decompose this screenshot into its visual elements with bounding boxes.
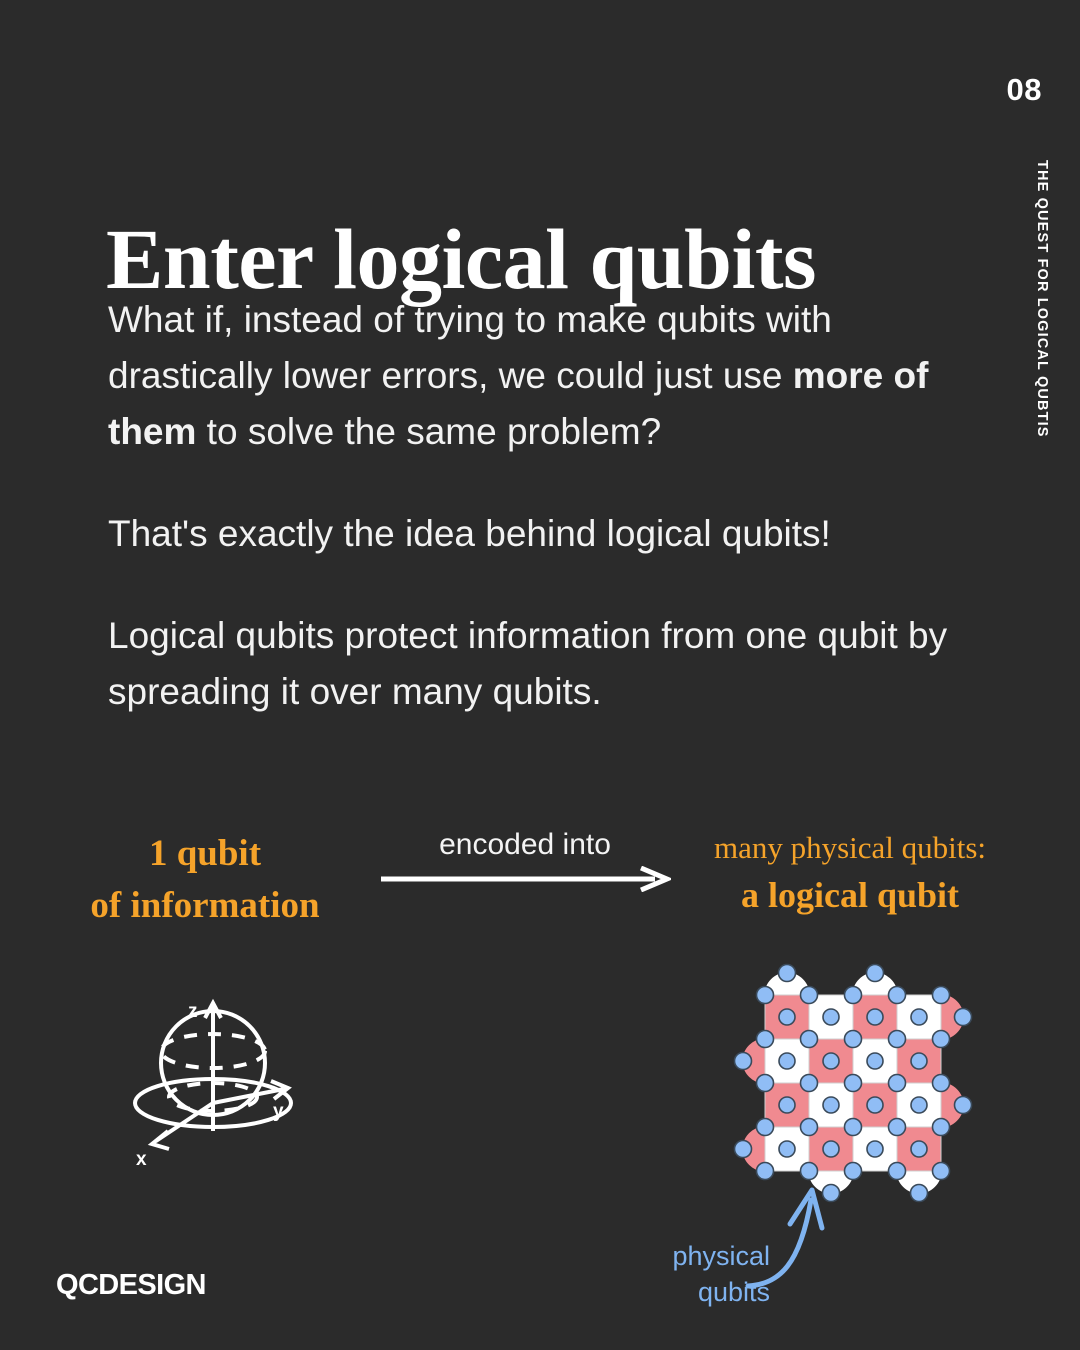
qubit-dot xyxy=(889,1163,906,1180)
qubit-dot xyxy=(845,987,862,1004)
body-paragraph: Logical qubits protect information from … xyxy=(108,608,988,720)
encoding-source-line2: of information xyxy=(90,885,319,926)
qubit-dot xyxy=(867,1097,883,1113)
qubit-dot xyxy=(955,1009,972,1026)
qubit-dot xyxy=(933,987,950,1004)
encoding-source-line1: 1 qubit xyxy=(149,833,261,874)
qubit-dot xyxy=(889,1075,906,1092)
physical-qubits-label-line2: qubits xyxy=(698,1277,770,1307)
qubit-dot xyxy=(801,1163,818,1180)
qubit-dot xyxy=(801,987,818,1004)
qubit-dot xyxy=(845,1119,862,1136)
qubit-dot xyxy=(801,1031,818,1048)
encoding-transition: encoded into xyxy=(370,828,680,892)
encoding-source-label: 1 qubit of information xyxy=(40,828,370,932)
bloch-axis-label-z: z xyxy=(188,1001,198,1022)
encoding-target-line1: many physical qubits: xyxy=(680,826,1020,870)
qubit-dot xyxy=(911,1009,927,1025)
encoding-target-label: many physical qubits: a logical qubit xyxy=(680,826,1020,920)
body-text-run: Logical qubits protect information from … xyxy=(108,615,947,712)
qubit-dot xyxy=(911,1185,928,1202)
qubit-dot xyxy=(823,1097,839,1113)
qubit-dot xyxy=(779,1009,795,1025)
qubit-dot xyxy=(823,1009,839,1025)
qubit-dot xyxy=(757,1119,774,1136)
qubit-dot xyxy=(889,1031,906,1048)
qubit-dot xyxy=(845,1031,862,1048)
qubit-dot xyxy=(911,1097,927,1113)
qubit-dot xyxy=(933,1163,950,1180)
qubit-dot xyxy=(867,1141,883,1157)
qubit-dot xyxy=(757,1031,774,1048)
qubit-dot xyxy=(845,1163,862,1180)
qubit-dot xyxy=(779,1141,795,1157)
encoding-target-line2: a logical qubit xyxy=(680,870,1020,920)
page-title: Enter logical qubits xyxy=(106,216,816,302)
qubit-dot xyxy=(889,987,906,1004)
page-number: 08 xyxy=(1007,72,1042,108)
physical-qubits-annotation: physical qubits xyxy=(640,1180,870,1305)
bloch-axis-label-x: x xyxy=(136,1149,147,1170)
right-arrow-icon xyxy=(379,866,671,892)
encoded-into-label: encoded into xyxy=(370,828,680,862)
qubit-dot xyxy=(867,1009,883,1025)
qubit-dot xyxy=(845,1075,862,1092)
qubit-dot xyxy=(867,1053,883,1069)
body-paragraph: That's exactly the idea behind logical q… xyxy=(108,506,988,562)
bloch-sphere-icon: z y x xyxy=(118,985,308,1180)
qubit-dot xyxy=(933,1031,950,1048)
qubit-dot xyxy=(757,1163,774,1180)
body-copy: What if, instead of trying to make qubit… xyxy=(108,292,988,720)
qubit-dot xyxy=(735,1141,752,1158)
body-text-run: What if, instead of trying to make qubit… xyxy=(108,299,832,396)
qubit-dot xyxy=(779,1097,795,1113)
physical-qubits-label: physical qubits xyxy=(640,1238,770,1310)
bloch-axis-label-y: y xyxy=(273,1101,284,1122)
body-paragraph: What if, instead of trying to make qubit… xyxy=(108,292,988,460)
qubit-dot xyxy=(889,1119,906,1136)
physical-qubits-label-line1: physical xyxy=(672,1241,770,1271)
qubit-dot xyxy=(735,1053,752,1070)
qubit-dot xyxy=(933,1119,950,1136)
qubit-dot xyxy=(823,1141,839,1157)
qubit-dot xyxy=(779,1053,795,1069)
qubit-dot xyxy=(779,965,796,982)
brand-logo: QCDESIGN xyxy=(56,1269,206,1302)
encoding-diagram: 1 qubit of information encoded into many… xyxy=(0,828,1080,948)
surface-code-lattice-icon xyxy=(715,945,1005,1210)
qubit-dot xyxy=(911,1053,927,1069)
slide-canvas: 08 THE QUEST FOR LOGICAL QUBTIS Enter lo… xyxy=(0,0,1080,1350)
side-rail: THE QUEST FOR LOGICAL QUBTIS xyxy=(1028,160,1058,490)
body-text-run: to solve the same problem? xyxy=(196,411,661,452)
body-text-run: That's exactly the idea behind logical q… xyxy=(108,513,831,554)
qubit-dot xyxy=(823,1053,839,1069)
qubit-dot xyxy=(801,1075,818,1092)
qubit-dot xyxy=(955,1097,972,1114)
qubit-dot xyxy=(911,1141,927,1157)
qubit-dot xyxy=(757,987,774,1004)
side-rail-caption: THE QUEST FOR LOGICAL QUBTIS xyxy=(1034,160,1050,438)
qubit-dot xyxy=(933,1075,950,1092)
qubit-dot xyxy=(757,1075,774,1092)
qubit-dot xyxy=(867,965,884,982)
qubit-dot xyxy=(801,1119,818,1136)
